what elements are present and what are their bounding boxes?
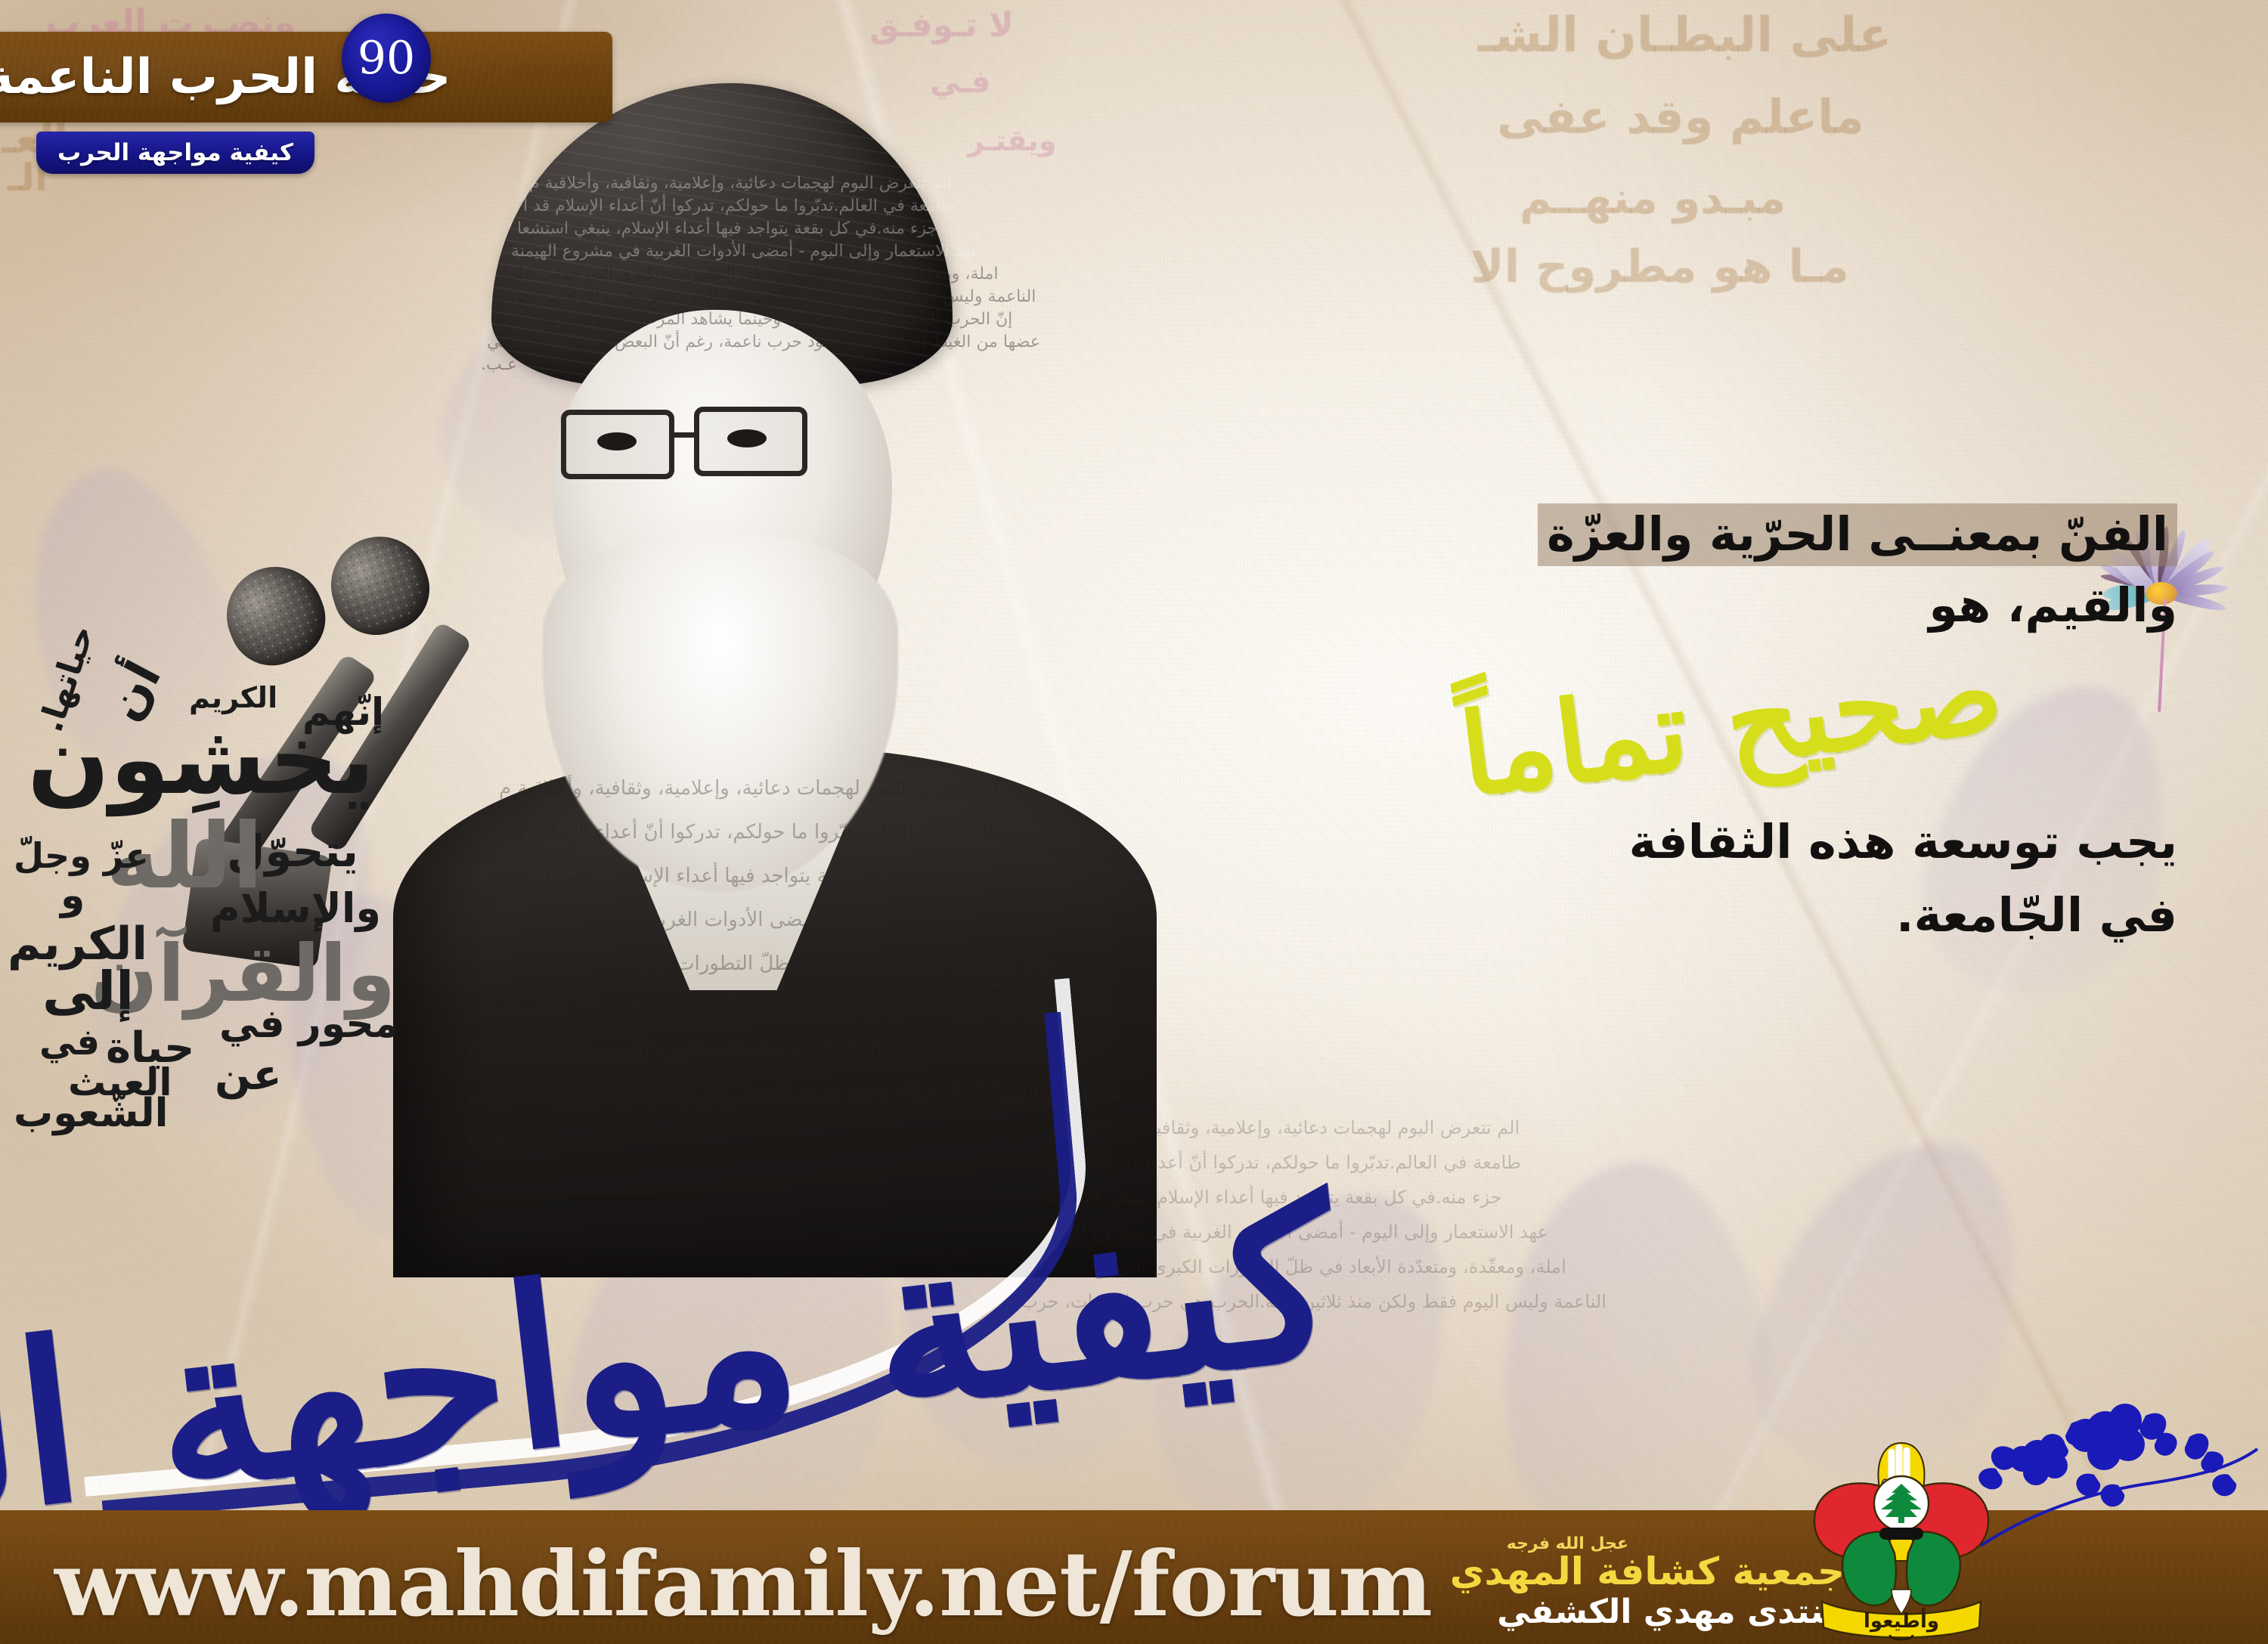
- poster-root: على البطـان الشـماعلم وقد عفىمبـدو منهــ…: [0, 0, 2268, 1644]
- org-name: جمعية كشافة المهدي: [1450, 1550, 1845, 1593]
- quote-line-1-text: الفنّ بمعنــى الحرّية والعزّة: [1538, 503, 2177, 566]
- calligraphy-word: عزّ وجلّ: [14, 841, 149, 872]
- calligraphy-word: الشّعوب: [14, 1096, 168, 1132]
- subtitle-pill: كيفية مواجهة الحرب: [36, 132, 314, 174]
- background-script-line-pink: لا تـوفـق: [869, 6, 1014, 45]
- motto-banner-text: وأطيعوا: [1864, 1608, 1939, 1633]
- quote-line-4: في الجّامعة.: [1285, 879, 2177, 952]
- calligraphy-word: يخشِون: [27, 717, 375, 803]
- campaign-title: حملة الحرب الناعمة: [0, 32, 612, 122]
- quote-script-word: صحيح تماماً: [1281, 613, 2180, 834]
- calligraphy-word: والإسلام: [210, 890, 381, 927]
- calligraphy-word: محور في: [219, 1007, 398, 1042]
- website-url[interactable]: www.mahdifamily.net/forum: [54, 1531, 1432, 1636]
- calligraphy-word: عن: [215, 1057, 282, 1094]
- calligraphy-word: و: [60, 878, 85, 914]
- org-forum-name: منتدى مهدي الكشفي: [1450, 1593, 1845, 1633]
- calligraphy-word: والقرآن: [91, 939, 395, 1010]
- organization-block: عجل الله فرجه جمعية كشافة المهدي منتدى م…: [1450, 1534, 1845, 1633]
- blue-floral-vine-decoration: [1973, 1402, 2260, 1561]
- calligraphy-word: في: [39, 1026, 100, 1059]
- issue-number-badge: 90: [342, 14, 431, 103]
- emblem-crossbar: [1879, 1528, 1923, 1540]
- background-script-line-pink: فـي: [930, 65, 990, 100]
- background-script-line-pink: ويقتـر: [968, 124, 1056, 157]
- quote-block: الفنّ بمعنــى الحرّية والعزّة والقيم، هو…: [1285, 499, 2177, 952]
- left-calligraphy-block: حياتها.أنالكريمإنّهميخشِونيتحوّلاللهعزّ …: [0, 642, 529, 1172]
- quote-line-1: الفنّ بمعنــى الحرّية والعزّة: [1285, 499, 2177, 570]
- header-ribbon: حملة الحرب الناعمة: [0, 32, 612, 122]
- scout-emblem-icon: وأطيعوا: [1807, 1440, 1996, 1642]
- calligraphy-word: إلى: [42, 968, 134, 1015]
